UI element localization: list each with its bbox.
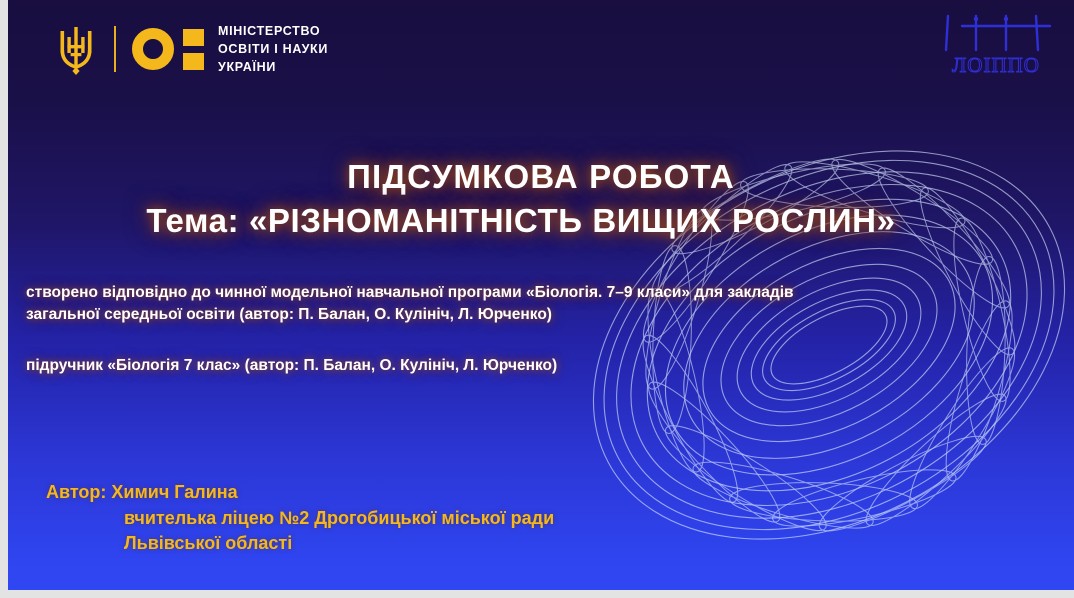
ministry-wordmark-line-1: МІНІСТЕРСТВО — [218, 22, 328, 40]
author-region: Львівської області — [46, 531, 554, 557]
author-block: Автор: Химич Галина вчителька ліцею №2 Д… — [46, 480, 554, 557]
program-note-line-1: створено відповідно до чинної модельної … — [26, 282, 986, 304]
page-title: ПІДСУМКОВА РОБОТА — [8, 158, 1074, 196]
ministry-wordmark-line-2: ОСВІТИ І НАУКИ — [218, 40, 328, 58]
slide-title-block: ПІДСУМКОВА РОБОТА Тема: «РІЗНОМАНІТНІСТЬ… — [8, 158, 1074, 240]
textbook-note: підручник «Біологія 7 клас» (автор: П. Б… — [26, 355, 986, 377]
author-role: вчителька ліцею №2 Дрогобицької міської … — [46, 506, 554, 532]
mon-bar-top — [183, 29, 204, 46]
paragraph-spacer — [26, 327, 986, 355]
slide-canvas: МІНІСТЕРСТВО ОСВІТИ І НАУКИ УКРАЇНИ ЛОІП… — [8, 0, 1074, 590]
loippo-logo: ЛОІППО — [936, 10, 1056, 86]
page-subtitle: Тема: «РІЗНОМАНІТНІСТЬ ВИЩИХ РОСЛИН» — [8, 202, 1074, 240]
ukrainian-trident-icon — [56, 23, 96, 75]
program-note-line-2: загальної середньої освіти (автор: П. Ба… — [26, 304, 986, 326]
ministry-logo: МІНІСТЕРСТВО ОСВІТИ І НАУКИ УКРАЇНИ — [56, 18, 328, 80]
presentation-slide-frame: МІНІСТЕРСТВО ОСВІТИ І НАУКИ УКРАЇНИ ЛОІП… — [0, 0, 1074, 598]
slide-body-text: створено відповідно до чинної модельної … — [26, 282, 986, 377]
logo-divider — [114, 26, 116, 72]
author-name: Автор: Химич Галина — [46, 480, 554, 506]
ministry-wordmark: МІНІСТЕРСТВО ОСВІТИ І НАУКИ УКРАЇНИ — [218, 22, 328, 76]
ministry-wordmark-line-3: УКРАЇНИ — [218, 58, 328, 76]
loippo-logo-text: ЛОІППО — [952, 53, 1040, 77]
mon-symbol-icon — [132, 28, 204, 70]
mon-bar-bottom — [183, 53, 204, 70]
mon-ring-icon — [132, 28, 174, 70]
mon-bars-icon — [183, 29, 204, 70]
